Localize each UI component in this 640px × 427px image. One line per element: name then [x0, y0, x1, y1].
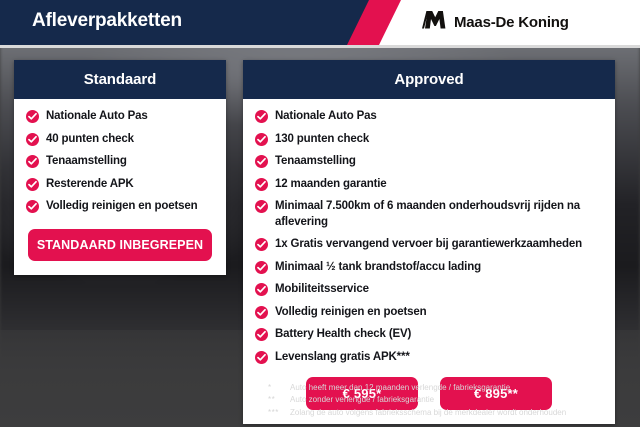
feature-text: Tenaamstelling: [46, 154, 127, 170]
list-item: 130 punten check: [255, 132, 603, 148]
check-circle-icon: [255, 110, 268, 123]
brand-logo: Maas-De Koning: [422, 11, 569, 34]
feature-text: Volledig reinigen en poetsen: [275, 305, 427, 321]
card-standaard-title: Standaard: [14, 60, 226, 99]
maas-m-logo-icon: [422, 11, 446, 34]
check-circle-icon: [26, 178, 39, 191]
feature-text: Mobiliteitsservice: [275, 282, 369, 298]
check-circle-icon: [255, 178, 268, 191]
feature-text: Battery Health check (EV): [275, 327, 411, 343]
feature-list-approved: Nationale Auto Pas 130 punten check Tena…: [255, 109, 603, 365]
footnote-text: Auto heeft meer dan 12 maanden verlengde…: [290, 383, 510, 393]
list-item: Tenaamstelling: [255, 154, 603, 170]
list-item: Nationale Auto Pas: [255, 109, 603, 125]
list-item: Volledig reinigen en poetsen: [255, 305, 603, 321]
check-circle-icon: [255, 283, 268, 296]
footnote-row: *** Zolang de auto volgens fabrieksschem…: [268, 408, 628, 418]
list-item: Resterende APK: [26, 177, 214, 193]
check-circle-icon: [255, 238, 268, 251]
card-standaard: Standaard Nationale Auto Pas 40 punten c…: [14, 60, 226, 275]
footnote-marker: *: [268, 383, 290, 392]
list-item: Tenaamstelling: [26, 154, 214, 170]
check-circle-icon: [26, 200, 39, 213]
feature-text: Minimaal 7.500km of 6 maanden onderhouds…: [275, 199, 603, 230]
footnotes: * Auto heeft meer dan 12 maanden verleng…: [268, 383, 628, 420]
check-circle-icon: [26, 110, 39, 123]
check-circle-icon: [26, 155, 39, 168]
page-title: Afleverpakketten: [32, 10, 182, 32]
list-item: Mobiliteitsservice: [255, 282, 603, 298]
brand-name: Maas-De Koning: [454, 14, 569, 31]
feature-text: Nationale Auto Pas: [46, 109, 148, 125]
list-item: 12 maanden garantie: [255, 177, 603, 193]
list-item: Minimaal 7.500km of 6 maanden onderhouds…: [255, 199, 603, 230]
standaard-inbegrepen-button[interactable]: STANDAARD INBEGREPEN: [28, 229, 212, 261]
card-standaard-body: Nationale Auto Pas 40 punten check Tenaa…: [14, 99, 226, 275]
list-item: Minimaal ½ tank brandstof/accu lading: [255, 260, 603, 276]
list-item: Battery Health check (EV): [255, 327, 603, 343]
feature-text: Volledig reinigen en poetsen: [46, 199, 198, 215]
list-item: Levenslang gratis APK***: [255, 350, 603, 366]
feature-text: Levenslang gratis APK***: [275, 350, 410, 366]
feature-list-standaard: Nationale Auto Pas 40 punten check Tenaa…: [26, 109, 214, 215]
list-item: 40 punten check: [26, 132, 214, 148]
feature-text: 12 maanden garantie: [275, 177, 387, 193]
feature-text: Minimaal ½ tank brandstof/accu lading: [275, 260, 481, 276]
footnote-text: Zolang de auto volgens fabrieksschema bi…: [290, 408, 566, 418]
check-circle-icon: [255, 200, 268, 213]
check-circle-icon: [26, 133, 39, 146]
feature-text: Nationale Auto Pas: [275, 109, 377, 125]
page-header: Afleverpakketten Maas-De Koning: [0, 0, 640, 45]
check-circle-icon: [255, 133, 268, 146]
footnote-marker: **: [268, 395, 290, 404]
card-approved-title: Approved: [243, 60, 615, 99]
footnote-row: * Auto heeft meer dan 12 maanden verleng…: [268, 383, 628, 393]
afleverpakketten-screen: Afleverpakketten Maas-De Koning Standaar…: [0, 0, 640, 427]
check-circle-icon: [255, 351, 268, 364]
footnote-marker: ***: [268, 408, 290, 417]
header-underline: [0, 45, 640, 48]
footnote-text: Auto zonder verlengde / fabrieksgarantie: [290, 395, 434, 405]
feature-text: Resterende APK: [46, 177, 134, 193]
feature-text: 40 punten check: [46, 132, 134, 148]
feature-text: 1x Gratis vervangend vervoer bij garanti…: [275, 237, 582, 253]
footnote-row: ** Auto zonder verlengde / fabrieksgaran…: [268, 395, 628, 405]
check-circle-icon: [255, 155, 268, 168]
check-circle-icon: [255, 306, 268, 319]
check-circle-icon: [255, 261, 268, 274]
list-item: Volledig reinigen en poetsen: [26, 199, 214, 215]
feature-text: Tenaamstelling: [275, 154, 356, 170]
card-approved-body: Nationale Auto Pas 130 punten check Tena…: [243, 99, 615, 424]
check-circle-icon: [255, 328, 268, 341]
list-item: Nationale Auto Pas: [26, 109, 214, 125]
list-item: 1x Gratis vervangend vervoer bij garanti…: [255, 237, 603, 253]
card-approved: Approved Nationale Auto Pas 130 punten c…: [243, 60, 615, 424]
feature-text: 130 punten check: [275, 132, 369, 148]
